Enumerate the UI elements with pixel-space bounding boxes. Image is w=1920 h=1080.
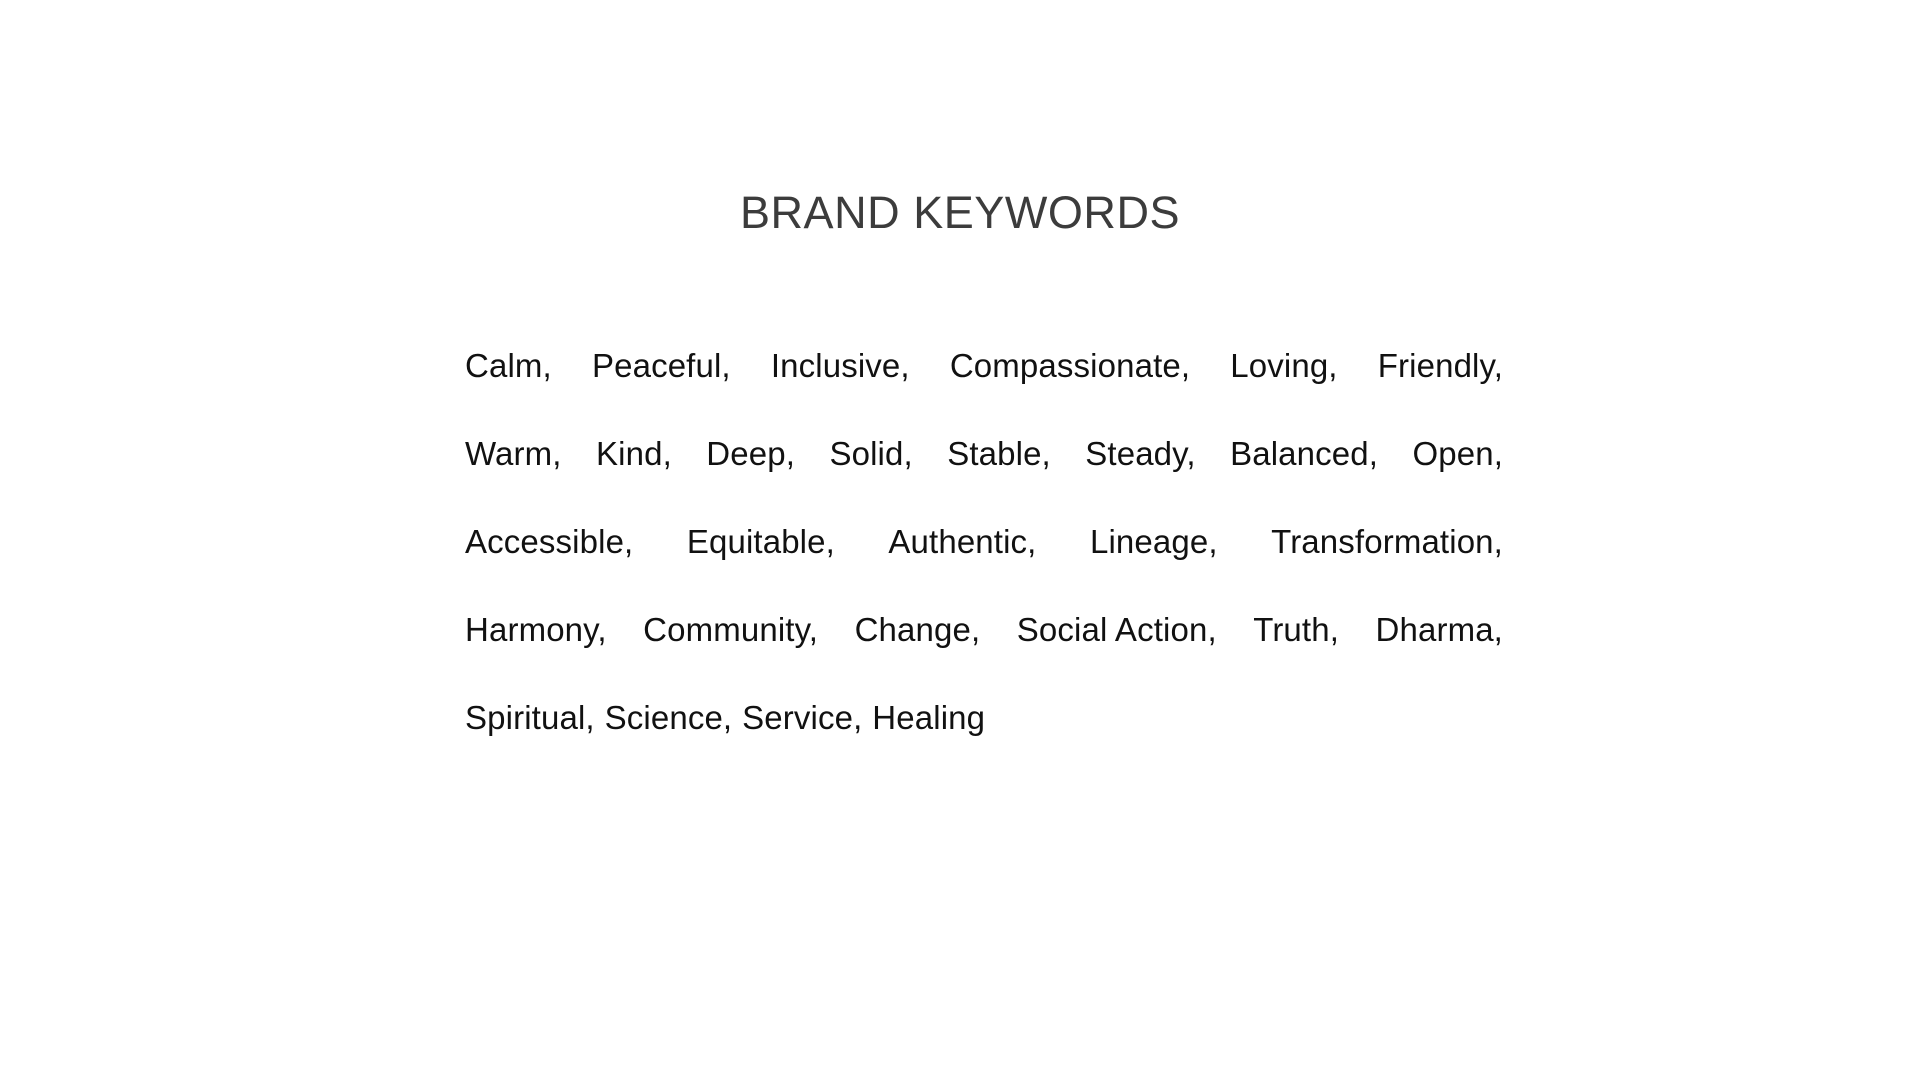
keyword-token: Accessible, [465, 521, 633, 563]
keyword-token: Stable, [947, 433, 1051, 475]
keyword-token: Science, [605, 697, 733, 739]
keyword-line: Warm, Kind, Deep, Solid, Stable, Steady,… [465, 433, 1503, 521]
keyword-token: Warm, [465, 433, 562, 475]
keyword-token: Deep, [706, 433, 795, 475]
keyword-token: Equitable, [687, 521, 835, 563]
keyword-token: Dharma, [1376, 609, 1503, 651]
keyword-token: Social Action, [1017, 609, 1217, 651]
brand-keywords-list: Calm, Peaceful, Inclusive, Compassionate… [465, 345, 1503, 785]
keyword-token: Service, [742, 697, 862, 739]
keyword-token: Transformation, [1271, 521, 1503, 563]
keyword-token: Balanced, [1230, 433, 1378, 475]
keyword-token: Calm, [465, 345, 552, 387]
keyword-token: Harmony, [465, 609, 607, 651]
keyword-token: Inclusive, [771, 345, 910, 387]
keyword-line: Accessible, Equitable, Authentic, Lineag… [465, 521, 1503, 609]
keyword-token: Change, [855, 609, 981, 651]
keyword-token: Open, [1412, 433, 1503, 475]
keyword-token: Solid, [829, 433, 912, 475]
keyword-line: Harmony, Community, Change, Social Actio… [465, 609, 1503, 697]
keyword-token: Steady, [1085, 433, 1195, 475]
keyword-token: Compassionate, [950, 345, 1190, 387]
keyword-line: Spiritual, Science, Service, Healing [465, 697, 1503, 785]
keyword-token: Friendly, [1378, 345, 1503, 387]
keyword-token: Kind, [596, 433, 672, 475]
keyword-token: Lineage, [1090, 521, 1218, 563]
keyword-token: Healing [872, 697, 985, 739]
keyword-token: Truth, [1253, 609, 1339, 651]
keyword-token: Loving, [1230, 345, 1337, 387]
keyword-line: Calm, Peaceful, Inclusive, Compassionate… [465, 345, 1503, 433]
keyword-token: Community, [643, 609, 818, 651]
keyword-token: Spiritual, [465, 697, 595, 739]
slide-canvas: BRAND KEYWORDS Calm, Peaceful, Inclusive… [0, 0, 1920, 1080]
keyword-token: Authentic, [888, 521, 1036, 563]
keyword-token: Peaceful, [592, 345, 731, 387]
page-title: BRAND KEYWORDS [0, 190, 1920, 235]
